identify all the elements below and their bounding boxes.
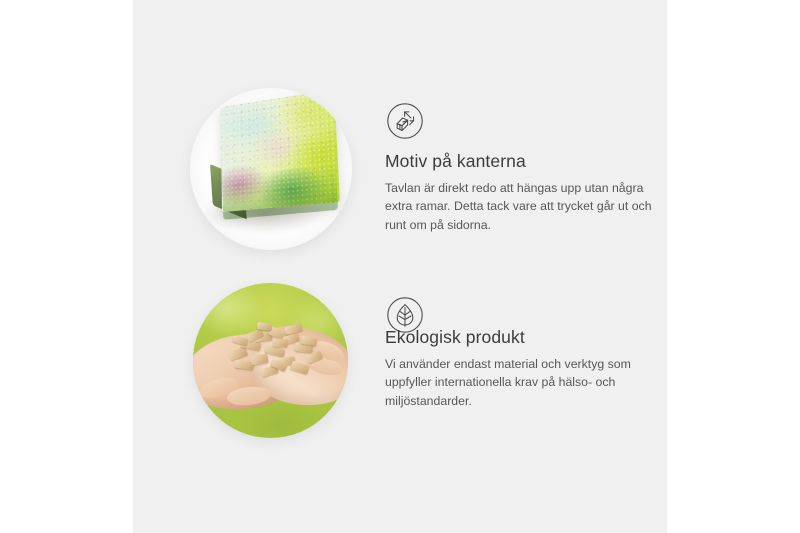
product-feature-infographic: Motiv på kanterna Tavlan är direkt redo …	[0, 0, 800, 533]
wood-chips-in-hands-photo	[193, 283, 348, 438]
canvas-block	[208, 88, 352, 234]
wood-chip	[273, 338, 289, 347]
canvas-wrapped-edges-icon	[386, 102, 424, 140]
feature-eco-title: Ekologisk produkt	[385, 327, 653, 348]
feature-eco-description: Vi använder endast material och verktyg …	[385, 355, 653, 411]
canvas-print-product-photo	[190, 88, 352, 250]
feature-eco-text: Ekologisk produkt Vi använder endast mat…	[385, 327, 653, 411]
feature-eco: Ekologisk produkt Vi använder endast mat…	[133, 272, 667, 447]
wood-chip-pile	[227, 323, 323, 381]
wood-chip	[228, 346, 248, 360]
wood-chip	[290, 360, 310, 374]
feature-edges-description: Tavlan är direkt redo att hängas upp uta…	[385, 179, 653, 235]
feature-edges: Motiv på kanterna Tavlan är direkt redo …	[133, 78, 667, 258]
feature-edges-text: Motiv på kanterna Tavlan är direkt redo …	[385, 151, 653, 235]
wood-chip	[284, 323, 302, 334]
wood-chip	[250, 354, 268, 366]
feature-edges-title: Motiv på kanterna	[385, 151, 653, 172]
content-panel: Motiv på kanterna Tavlan är direkt redo …	[133, 0, 667, 533]
